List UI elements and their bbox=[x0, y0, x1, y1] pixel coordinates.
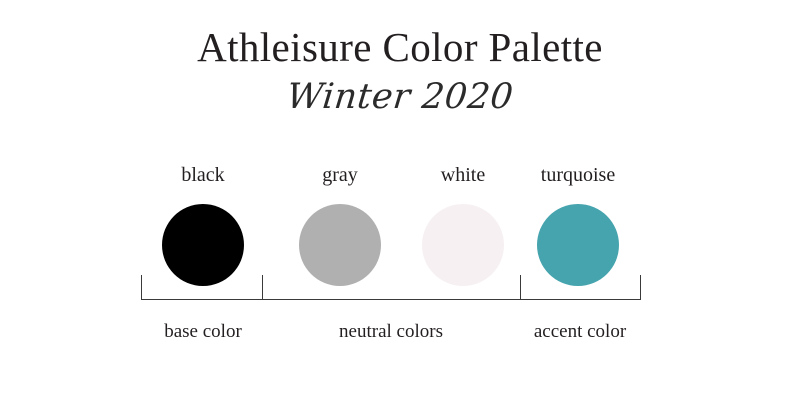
page-title: Athleisure Color Palette bbox=[0, 22, 800, 72]
bracket-tick bbox=[141, 275, 142, 300]
bracket-tick bbox=[520, 275, 521, 300]
bracket-baseline bbox=[141, 299, 640, 300]
color-palette-infographic: Athleisure Color Palette Winter 2020 bla… bbox=[0, 0, 800, 400]
bracket bbox=[141, 274, 640, 300]
bracket-tick bbox=[640, 275, 641, 300]
swatch-black: black bbox=[133, 163, 273, 286]
swatch-label: black bbox=[133, 163, 273, 187]
swatch-label: gray bbox=[270, 163, 410, 187]
swatch-gray: gray bbox=[270, 163, 410, 286]
bracket-tick bbox=[262, 275, 263, 300]
swatch-label: turquoise bbox=[508, 163, 648, 187]
swatch-turquoise: turquoise bbox=[508, 163, 648, 286]
category-label: accent color bbox=[460, 320, 700, 344]
page-subtitle: Winter 2020 bbox=[0, 74, 800, 120]
